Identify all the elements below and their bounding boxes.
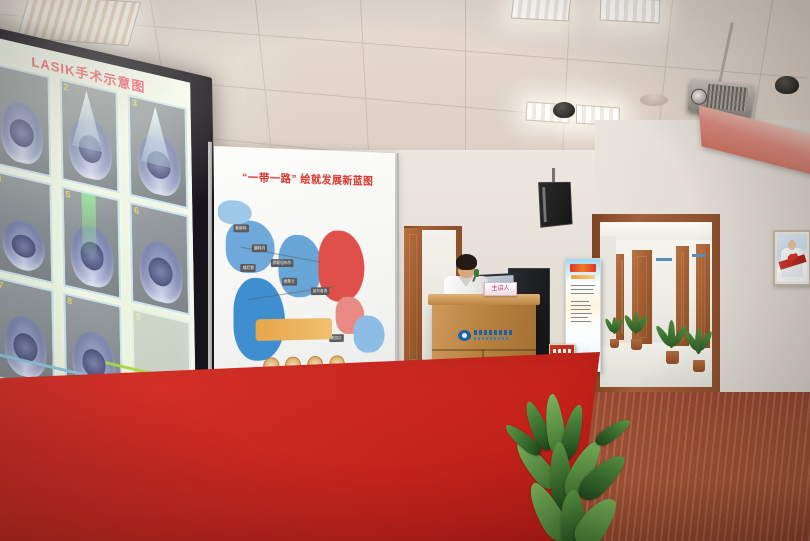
microphone — [474, 269, 479, 277]
smoke-detector — [640, 94, 668, 106]
city-badge: 加尔各答 — [311, 287, 329, 295]
map-north-edge — [218, 200, 252, 225]
lasik-step-panel: 6 — [130, 201, 190, 316]
belt-and-road-banner: “一带一路” 绘就发展新蓝图 莫斯科 鹿特丹 威尼斯 伊斯坦布尔 德黑兰 加尔各… — [214, 146, 395, 391]
lasik-step-panel: 5 — [61, 185, 121, 300]
ceiling-light-2 — [511, 0, 571, 22]
lasik-step-panel: 4 — [0, 170, 53, 285]
banner-face: “一带一路” 绘就发展新蓝图 莫斯科 鹿特丹 威尼斯 伊斯坦布尔 德黑兰 加尔各… — [214, 146, 395, 391]
lasik-step-panel: 2 — [59, 78, 119, 193]
hallway-potted-plants — [606, 318, 622, 348]
speaker-name-card: 主讲人 — [484, 282, 517, 296]
hallway-sign — [656, 258, 672, 261]
center-door[interactable] — [404, 228, 422, 366]
rollup-headline — [570, 264, 596, 272]
hallway-potted-plants — [688, 328, 710, 372]
name-card-text: 主讲人 — [485, 283, 516, 295]
poster-artwork — [777, 234, 807, 282]
logo-wordmark — [474, 330, 512, 335]
lasik-step-grid: 1 2 3 4 5 — [0, 62, 192, 423]
wall-speaker — [538, 182, 572, 228]
foreground-dracaena-plant — [520, 398, 710, 541]
banner-frame-post — [396, 153, 399, 384]
dome-camera-2 — [553, 102, 575, 118]
city-badge: 德黑兰 — [282, 278, 297, 286]
lasik-step-panel: 1 — [0, 62, 51, 177]
lecture-hall-photo: LASIK手术示意图 1 2 3 4 — [0, 0, 810, 541]
lasik-step-panel: 3 — [128, 94, 188, 209]
banner-frame-post — [208, 142, 212, 394]
hallway-potted-plants — [626, 314, 646, 350]
lasik-step-panel: 7 — [0, 277, 55, 392]
city-badge: 伊斯坦布尔 — [271, 259, 294, 267]
banner-title: “一带一路” 绘就发展新蓝图 — [229, 169, 385, 189]
city-badge: 鹿特丹 — [252, 244, 267, 252]
hallway-opening[interactable] — [600, 222, 712, 387]
hallway-sign — [692, 254, 706, 257]
city-badge: 威尼斯 — [241, 264, 256, 272]
eye-icon — [458, 330, 471, 341]
map-australia — [354, 315, 385, 353]
hallway-potted-plants — [660, 322, 684, 366]
logo-subtitle — [474, 337, 510, 340]
ceiling-light-3 — [600, 0, 661, 24]
hospital-eye-logo — [458, 329, 512, 343]
framed-wall-poster — [773, 230, 810, 286]
presenter-hair — [456, 254, 477, 270]
rollup-subhead — [571, 275, 595, 279]
hallway-ceiling — [600, 222, 712, 240]
dome-camera — [775, 76, 799, 94]
red-carpet — [0, 352, 600, 541]
banner-ribbon — [256, 318, 333, 341]
city-badge: 莫斯科 — [233, 225, 248, 233]
